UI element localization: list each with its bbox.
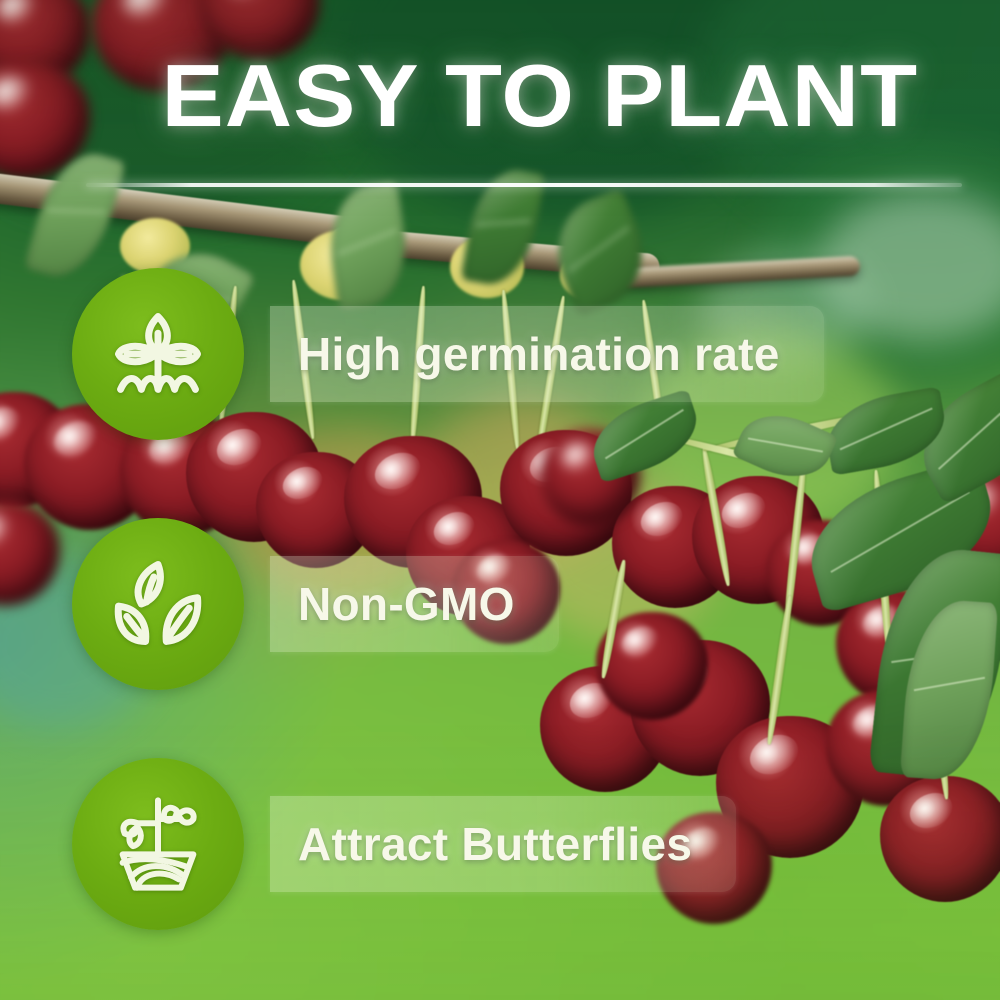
page-title: EASY TO PLANT [84, 50, 996, 142]
feature-label-pill: Non-GMO [270, 556, 559, 652]
feature-row-attract-butterflies: Attract Butterflies [72, 758, 736, 930]
feature-label-pill: Attract Butterflies [270, 796, 736, 892]
leaves-icon [106, 552, 210, 656]
feature-badge [72, 268, 244, 440]
feature-row-non-gmo: Non-GMO [72, 518, 559, 690]
feature-label: High germination rate [298, 327, 780, 381]
feature-label: Non-GMO [298, 577, 515, 631]
potted-sapling-icon [106, 792, 210, 896]
feature-row-high-germination-rate: High germination rate [72, 268, 824, 440]
content-overlay: EASY TO PLANT [0, 0, 1000, 1000]
feature-label: Attract Butterflies [298, 817, 692, 871]
title-divider [86, 183, 962, 187]
product-feature-poster: EASY TO PLANT [0, 0, 1000, 1000]
feature-label-pill: High germination rate [270, 306, 824, 402]
feature-badge [72, 518, 244, 690]
sprout-icon [106, 302, 210, 406]
feature-badge [72, 758, 244, 930]
